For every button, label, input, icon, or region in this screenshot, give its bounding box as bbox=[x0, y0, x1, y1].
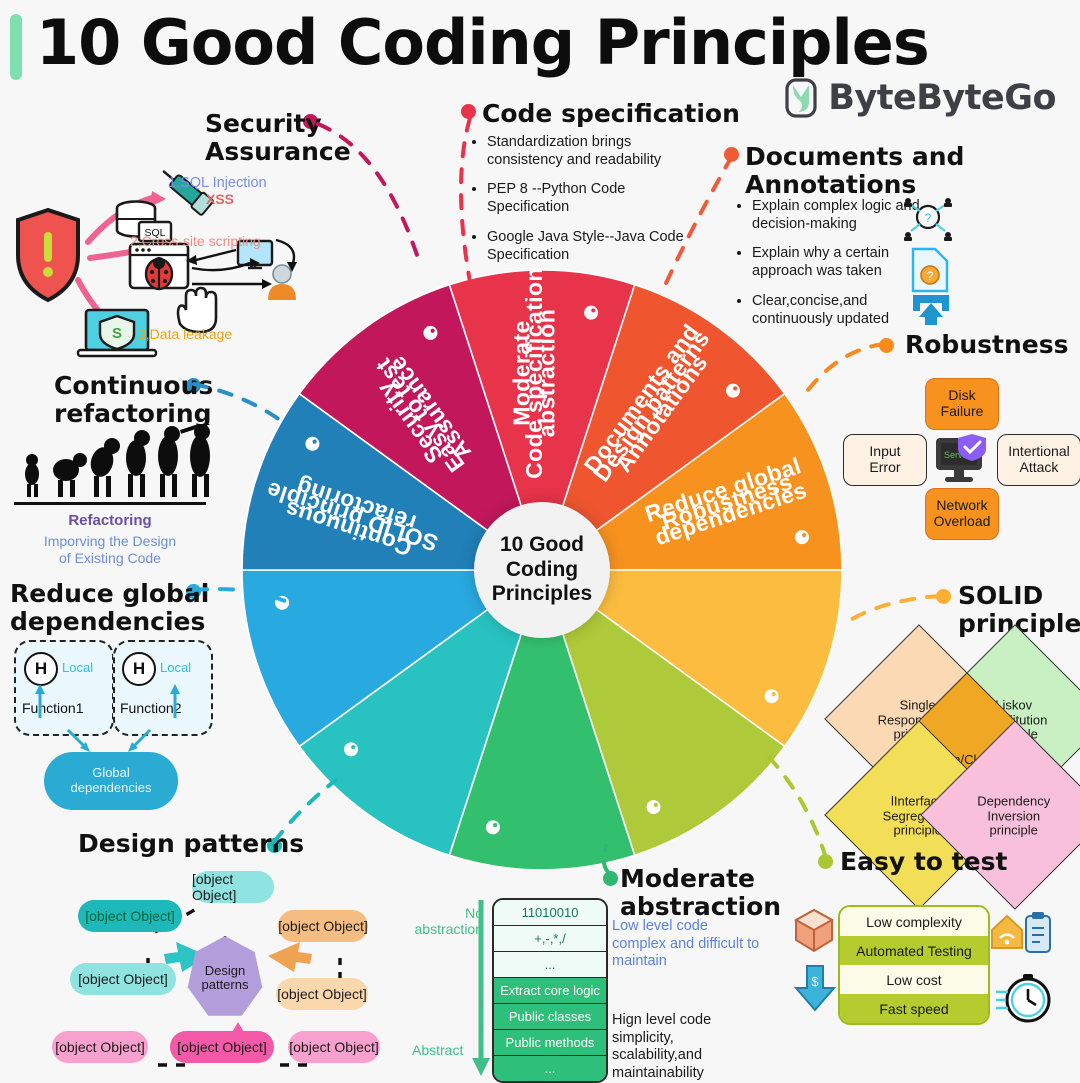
infographic-canvas: 10 Good Coding Principles ByteByteGo Cod… bbox=[0, 0, 1080, 1080]
connector-lines bbox=[0, 0, 1080, 1080]
